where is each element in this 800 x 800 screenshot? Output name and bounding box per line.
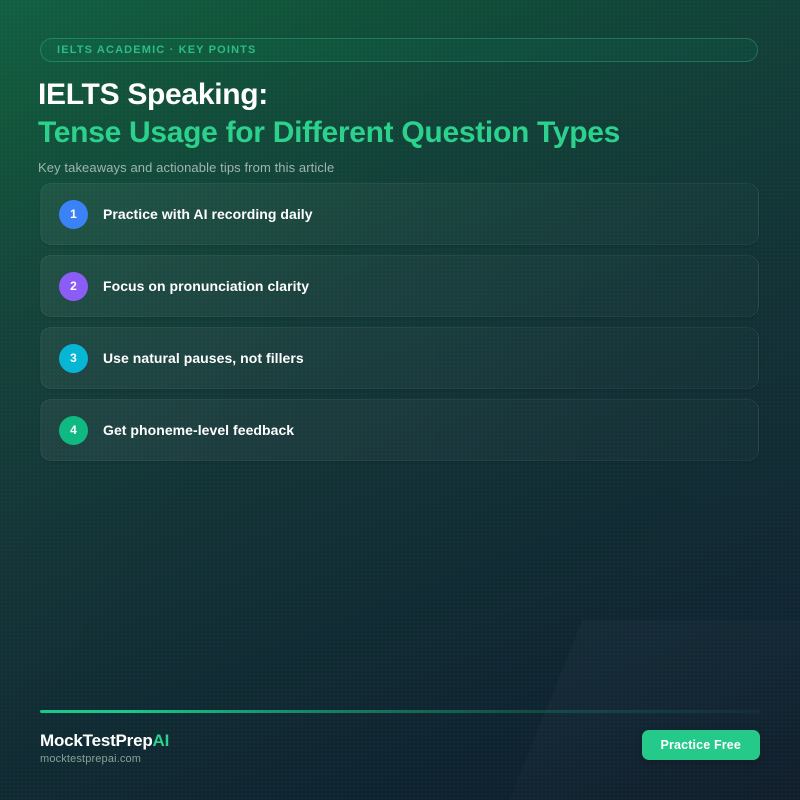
eyebrow-badge: IELTS ACADEMIC · KEY POINTS [40, 38, 758, 62]
brand-name: MockTestPrepAI [40, 730, 169, 751]
key-points-list: 1Practice with AI recording daily2Focus … [40, 183, 759, 471]
key-point-number-badge: 1 [59, 200, 88, 229]
footer-divider [40, 710, 760, 713]
page-subtitle: Key takeaways and actionable tips from t… [38, 160, 768, 175]
practice-free-button[interactable]: Practice Free [642, 730, 760, 760]
brand-block: MockTestPrepAI mocktestprepai.com [40, 730, 169, 765]
brand-name-main: MockTestPrep [40, 731, 153, 750]
key-points-infographic: IELTS ACADEMIC · KEY POINTS IELTS Speaki… [0, 0, 800, 800]
key-point-item: 2Focus on pronunciation clarity [40, 255, 759, 317]
page-title-line-1: IELTS Speaking: [38, 76, 768, 114]
key-point-number-badge: 4 [59, 416, 88, 445]
key-point-text: Practice with AI recording daily [103, 206, 331, 222]
eyebrow-label: IELTS ACADEMIC · KEY POINTS [57, 44, 257, 56]
key-point-number-badge: 3 [59, 344, 88, 373]
key-point-number-badge: 2 [59, 272, 88, 301]
brand-url: mocktestprepai.com [40, 753, 169, 765]
key-point-item: 4Get phoneme-level feedback [40, 399, 759, 461]
key-point-text: Use natural pauses, not fillers [103, 350, 322, 366]
brand-name-accent: AI [153, 731, 170, 750]
key-point-item: 1Practice with AI recording daily [40, 183, 759, 245]
key-point-text: Focus on pronunciation clarity [103, 278, 327, 294]
key-point-item: 3Use natural pauses, not fillers [40, 327, 759, 389]
title-block: IELTS Speaking: Tense Usage for Differen… [38, 76, 768, 175]
page-title-line-2: Tense Usage for Different Question Types [38, 114, 768, 152]
key-point-text: Get phoneme-level feedback [103, 422, 312, 438]
